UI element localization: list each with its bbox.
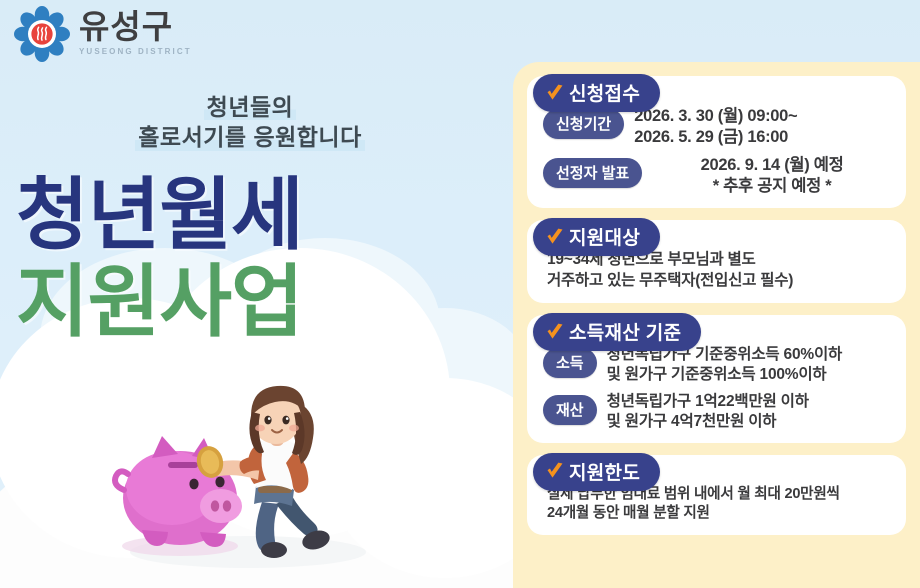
row-body-announcement: 2026. 9. 14 (월) 예정 * 추후 공지 예정 * (652, 155, 892, 197)
section-support-limit: 지원한도 실제 납부한 임대료 범위 내에서 월 최대 20만원씩 24개월 동… (527, 455, 906, 535)
row-announcement: 선정자 발표 2026. 9. 14 (월) 예정 * 추후 공지 예정 * (543, 155, 892, 197)
row-asset: 재산 청년독립가구 1억22백만원 이하 및 원가구 4억7천만원 이하 (543, 392, 892, 432)
announcement-line-2: * 추후 공지 예정 * (652, 176, 892, 197)
section-header-support-limit: 지원한도 (533, 453, 660, 491)
asset-line-1: 청년독립가구 1억22백만원 이하 (607, 392, 892, 412)
district-logo-text: 유성구 YUSEONG DISTRICT (79, 10, 192, 58)
row-pill-income: 소득 (543, 348, 597, 378)
row-income: 소득 청년독립가구 기준중위소득 60%이하 및 원가구 기준중위소득 100%… (543, 345, 892, 385)
row-pill-asset: 재산 (543, 395, 597, 425)
application-period-line-1: 2026. 3. 30 (월) 09:00~ (634, 106, 892, 127)
piggy-bank-icon (115, 436, 242, 556)
section-title-application: 신청접수 (569, 79, 640, 106)
row-body-application-period: 2026. 3. 30 (월) 09:00~ 2026. 5. 29 (금) 1… (634, 106, 892, 148)
section-title-eligibility: 지원대상 (569, 223, 640, 250)
girl-with-piggy-bank-illustration (108, 374, 388, 574)
section-header-application: 신청접수 (533, 74, 660, 112)
section-title-income-asset: 소득재산 기준 (569, 318, 681, 345)
check-icon (545, 461, 565, 481)
eligibility-body: 19~34세 청년으로 부모님과 별도 거주하고 있는 무주택자(전입신고 필수… (543, 250, 892, 292)
section-title-support-limit: 지원한도 (569, 458, 640, 485)
support-limit-line-2: 24개월 동안 매월 분할 지원 (547, 504, 892, 524)
section-eligibility: 지원대상 19~34세 청년으로 부모님과 별도 거주하고 있는 무주택자(전입… (527, 220, 906, 303)
row-pill-announcement: 선정자 발표 (543, 158, 642, 188)
hero-subtitle-line-1: 청년들의 (204, 92, 297, 122)
row-application-period: 신청기간 2026. 3. 30 (월) 09:00~ 2026. 5. 29 … (543, 106, 892, 148)
poster-canvas: 유성구 YUSEONG DISTRICT 청년들의 홀로서기를 응원합니다 청년… (0, 0, 920, 588)
application-period-line-2: 2026. 5. 29 (금) 16:00 (634, 127, 892, 148)
yuseong-emblem-icon (14, 6, 70, 62)
district-name-ko: 유성구 (79, 10, 192, 43)
row-body-asset: 청년독립가구 1억22백만원 이하 및 원가구 4억7천만원 이하 (607, 392, 892, 432)
section-header-income-asset: 소득재산 기준 (533, 313, 701, 351)
district-logo: 유성구 YUSEONG DISTRICT (14, 6, 192, 62)
section-income-asset: 소득재산 기준 소득 청년독립가구 기준중위소득 60%이하 및 원가구 기준중… (527, 315, 906, 442)
info-panel: 신청접수 신청기간 2026. 3. 30 (월) 09:00~ 2026. 5… (513, 62, 920, 588)
hero-subtitle: 청년들의 홀로서기를 응원합니다 (0, 92, 500, 153)
check-icon (545, 322, 565, 342)
asset-line-2: 및 원가구 4억7천만원 이하 (607, 412, 892, 432)
row-body-income: 청년독립가구 기준중위소득 60%이하 및 원가구 기준중위소득 100%이하 (607, 345, 892, 385)
section-application: 신청접수 신청기간 2026. 3. 30 (월) 09:00~ 2026. 5… (527, 76, 906, 208)
check-icon (545, 83, 565, 103)
check-icon (545, 227, 565, 247)
hero-subtitle-line-2: 홀로서기를 응원합니다 (135, 122, 365, 152)
announcement-line-1: 2026. 9. 14 (월) 예정 (652, 155, 892, 176)
page-title: 청년월세 지원사업 (16, 176, 496, 341)
page-title-line-2: 지원사업 (16, 263, 496, 340)
page-title-line-1: 청년월세 (16, 176, 496, 253)
eligibility-line-2: 거주하고 있는 무주택자(전입신고 필수) (547, 271, 892, 292)
section-header-eligibility: 지원대상 (533, 218, 660, 256)
district-name-en: YUSEONG DISTRICT (79, 48, 192, 56)
income-line-2: 및 원가구 기준중위소득 100%이하 (607, 365, 892, 385)
row-pill-application-period: 신청기간 (543, 109, 624, 139)
